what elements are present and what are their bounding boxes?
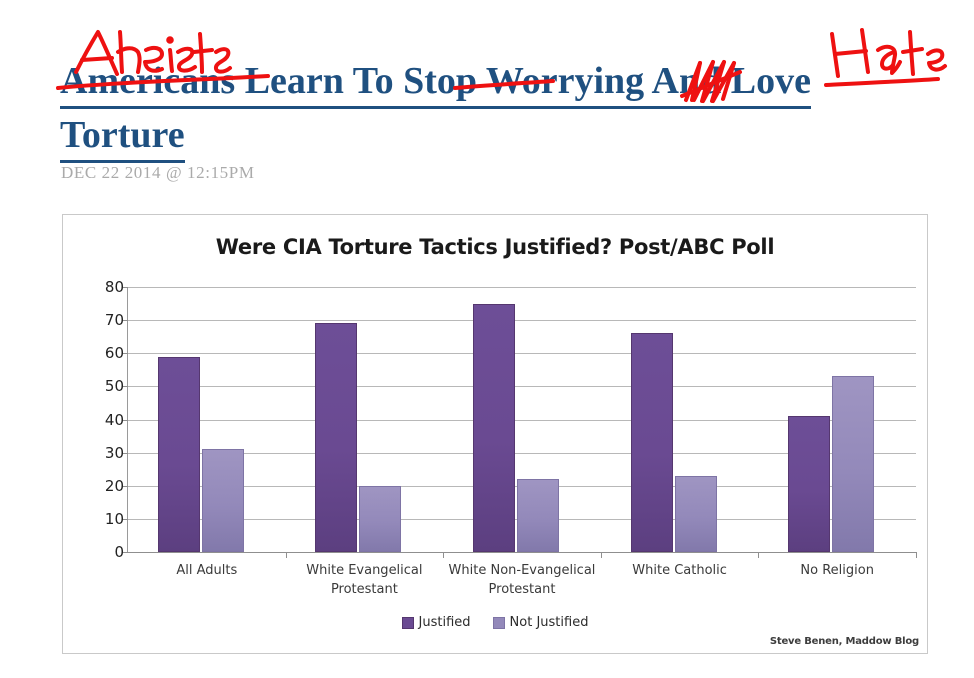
category-label-line: No Religion	[748, 561, 926, 580]
page-title-line-2: Torture	[60, 112, 185, 163]
y-tick-label: 60	[84, 344, 124, 362]
category-label-line: White Evangelical	[276, 561, 454, 580]
chart-source-attribution: Steve Benen, Maddow Blog	[770, 636, 919, 647]
chart-card: Were CIA Torture Tactics Justified? Post…	[62, 214, 928, 654]
category-label-line: White Catholic	[591, 561, 769, 580]
y-tick-label: 30	[84, 444, 124, 462]
bar-justified[interactable]	[473, 304, 515, 552]
bar-justified[interactable]	[788, 416, 830, 552]
y-tick-label: 50	[84, 377, 124, 395]
bar-group	[128, 287, 286, 552]
page-title-link[interactable]: Americans Learn To Stop Worrying And Lov…	[60, 60, 811, 102]
y-tick-label: 80	[84, 278, 124, 296]
post-date: DEC 22 2014 @ 12:15PM	[61, 163, 255, 183]
x-category-label: White EvangelicalProtestant	[276, 561, 454, 599]
legend-label-not-justified: Not Justified	[510, 615, 589, 630]
x-category-label: No Religion	[748, 561, 926, 580]
bar-not-justified[interactable]	[832, 376, 874, 552]
chart-legend: Justified Not Justified	[63, 615, 927, 630]
x-tick-mark	[286, 552, 287, 558]
bar-not-justified[interactable]	[359, 486, 401, 552]
bar-group	[758, 287, 916, 552]
article-header: Americans Learn To Stop Worrying And Lov…	[60, 58, 950, 163]
title-word-stop: Stop	[403, 60, 477, 102]
bar-justified[interactable]	[631, 333, 673, 552]
title-text: Learn To	[235, 60, 403, 102]
x-category-label: All Adults	[118, 561, 296, 580]
y-tick-label: 40	[84, 411, 124, 429]
x-tick-mark	[758, 552, 759, 558]
x-axis	[127, 552, 916, 553]
title-word-love: Love	[731, 60, 811, 102]
title-text: Worrying	[477, 60, 644, 102]
x-category-label: White Non-EvangelicalProtestant	[433, 561, 611, 599]
y-tick-label: 70	[84, 311, 124, 329]
x-tick-mark	[916, 552, 917, 558]
page-title-line-1: Americans Learn To Stop Worrying And Lov…	[60, 58, 811, 109]
category-label-line: Protestant	[433, 580, 611, 599]
title-word-americans: Americans	[60, 60, 235, 102]
legend-item-not-justified[interactable]: Not Justified	[493, 615, 589, 630]
legend-swatch-justified-icon	[402, 617, 414, 629]
chart-title: Were CIA Torture Tactics Justified? Post…	[63, 235, 927, 259]
chart-plot-area: 01020304050607080All AdultsWhite Evangel…	[128, 287, 916, 552]
y-tick-label: 0	[84, 543, 124, 561]
x-category-label: White Catholic	[591, 561, 769, 580]
legend-label-justified: Justified	[419, 615, 471, 630]
bar-not-justified[interactable]	[675, 476, 717, 552]
legend-item-justified[interactable]: Justified	[402, 615, 471, 630]
category-label-line: All Adults	[118, 561, 296, 580]
bar-not-justified[interactable]	[517, 479, 559, 552]
x-tick-mark	[443, 552, 444, 558]
y-tick-label: 10	[84, 510, 124, 528]
x-tick-mark	[601, 552, 602, 558]
category-label-line: Protestant	[276, 580, 454, 599]
page-title: Americans Learn To Stop Worrying And Lov…	[60, 58, 950, 163]
title-text: And	[644, 60, 731, 102]
bar-group	[443, 287, 601, 552]
category-label-line: White Non-Evangelical	[433, 561, 611, 580]
bar-group	[286, 287, 444, 552]
bar-justified[interactable]	[158, 357, 200, 552]
bar-justified[interactable]	[315, 323, 357, 552]
bar-not-justified[interactable]	[202, 449, 244, 552]
bar-group	[601, 287, 759, 552]
y-tick-label: 20	[84, 477, 124, 495]
legend-swatch-not-justified-icon	[493, 617, 505, 629]
